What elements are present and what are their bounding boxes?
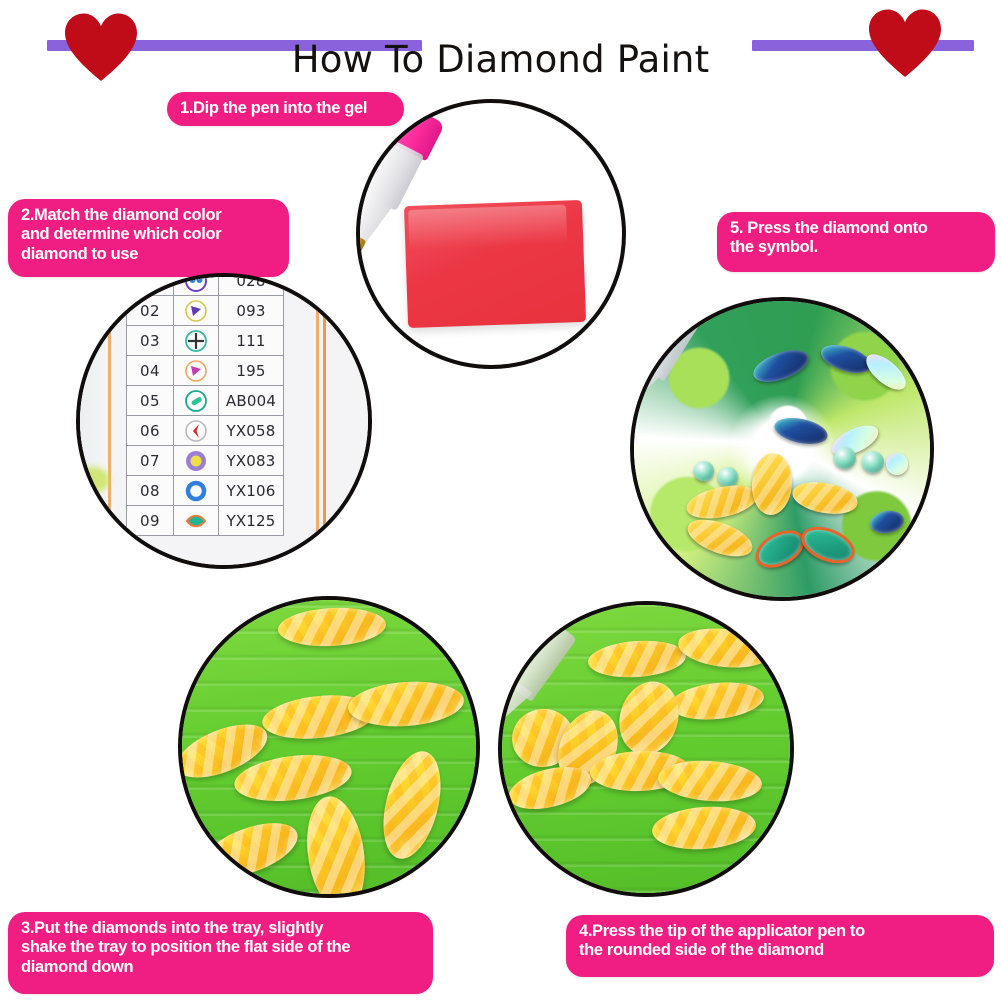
chart-name: 111 [219, 326, 284, 356]
step-2-label: 2.Match the diamond color and determine … [8, 199, 289, 277]
table-row: 08 YX106 [127, 476, 284, 506]
plus-icon [184, 329, 208, 353]
chart-symbol [174, 296, 219, 326]
step-2-label-line-3: diamond to use [21, 245, 276, 264]
step-4-label: 4.Press the tip of the applicator pen to… [566, 915, 994, 977]
table-row: 028 [127, 273, 284, 296]
photo-pen-dipping-in-gel [356, 99, 626, 369]
page-header: How To Diamond Paint [0, 0, 1001, 92]
chart-code: 05 [127, 386, 174, 416]
step-5-label-line-2: the symbol. [730, 238, 982, 257]
chart-margin-line [316, 277, 319, 565]
chart-code: 03 [127, 326, 174, 356]
chart-name: 195 [219, 356, 284, 386]
step-2-label-line-1: 2.Match the diamond color [21, 206, 276, 225]
photo-pen-picking-diamond [498, 601, 794, 897]
canvas-gem [862, 451, 884, 473]
chart-symbol [174, 506, 219, 536]
chart-name: YX083 [219, 446, 284, 476]
step-3-label: 3.Put the diamonds into the tray, slight… [8, 912, 433, 994]
chart-name: 093 [219, 296, 284, 326]
chart-name: YX106 [219, 476, 284, 506]
table-row: 02 093 [127, 296, 284, 326]
canvas-gem [694, 461, 714, 481]
step-2-label-line-2: and determine which color [21, 225, 276, 244]
chart-symbol [174, 326, 219, 356]
chart-code: 06 [127, 416, 174, 446]
step-4-label-line-1: 4.Press the tip of the applicator pen to [579, 922, 981, 941]
chart-name: YX058 [219, 416, 284, 446]
chart-symbol [174, 476, 219, 506]
chart-margin-line [323, 277, 326, 565]
photo-press-diamond-onto-symbol [630, 297, 934, 601]
ring-icon [184, 479, 208, 503]
triangle-icon [184, 299, 208, 323]
canvas-color-blot [86, 520, 116, 544]
table-row: 04 195 [127, 356, 284, 386]
photo-diamonds-in-tray [178, 596, 480, 898]
chart-code: 09 [127, 506, 174, 536]
canvas-gem [718, 467, 738, 487]
canvas-gem [886, 453, 908, 475]
step-4-label-line-2: the rounded side of the diamond [579, 941, 981, 960]
chart-name: 028 [219, 273, 284, 296]
leaf-icon [184, 509, 208, 533]
table-row: 09 YX125 [127, 506, 284, 536]
triangle-icon [184, 359, 208, 383]
chart-symbol [174, 446, 219, 476]
chart-symbol [174, 356, 219, 386]
chart-name: AB004 [219, 386, 284, 416]
chart-symbol [174, 386, 219, 416]
heart-icon [866, 8, 944, 80]
gel-pad [404, 200, 586, 328]
chart-symbol [174, 416, 219, 446]
color-chart-table: 028 02 093 03 111 [126, 273, 284, 536]
table-row: 05 AB004 [127, 386, 284, 416]
table-row: 06 YX058 [127, 416, 284, 446]
table-row: 03 111 [127, 326, 284, 356]
arrow-left-icon [184, 419, 208, 443]
page-title: How To Diamond Paint [0, 38, 1001, 81]
step-5-label: 5. Press the diamond onto the symbol. [717, 212, 995, 272]
step-3-label-line-3: diamond down [21, 958, 420, 977]
chart-code [127, 273, 174, 296]
chart-code: 08 [127, 476, 174, 506]
chart-code: 07 [127, 446, 174, 476]
step-3-label-line-1: 3.Put the diamonds into the tray, slight… [21, 919, 420, 938]
photo-color-chart: 028 02 093 03 111 [76, 273, 372, 569]
step-3-label-line-2: shake the tray to position the flat side… [21, 938, 420, 957]
dot-filled-icon [184, 449, 208, 473]
step-5-label-line-1: 5. Press the diamond onto [730, 219, 982, 238]
table-row: 07 YX083 [127, 446, 284, 476]
chart-name: YX125 [219, 506, 284, 536]
chart-code: 02 [127, 296, 174, 326]
pill-icon [184, 389, 208, 413]
chart-symbol [174, 273, 219, 296]
canvas-gem [834, 447, 856, 469]
chart-code: 04 [127, 356, 174, 386]
